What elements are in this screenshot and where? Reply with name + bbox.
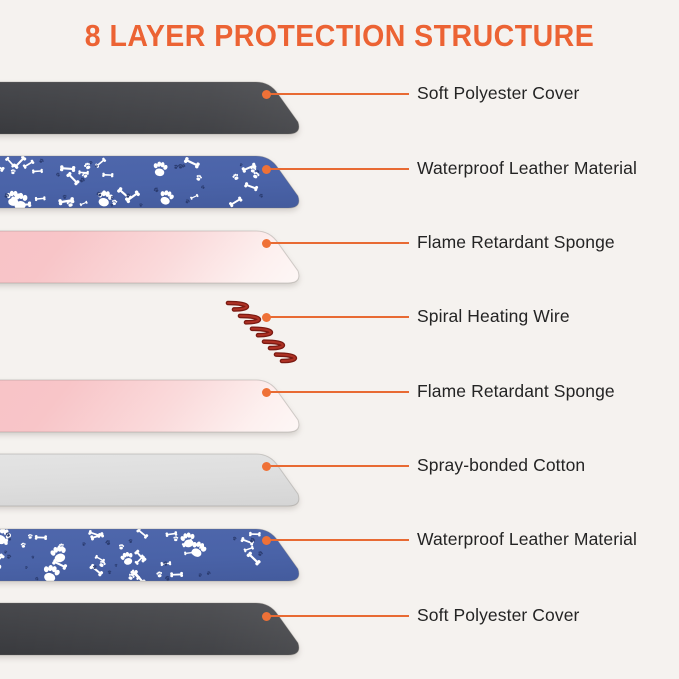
slab-shape bbox=[0, 146, 360, 220]
slab-shape bbox=[0, 593, 360, 667]
layer-label-2: Waterproof Leather Material bbox=[417, 158, 637, 179]
layer-slab-polyester bbox=[0, 72, 360, 146]
layer-label-3: Flame Retardant Sponge bbox=[417, 232, 615, 253]
layer-stack: Soft Polyester Cover bbox=[0, 0, 679, 679]
slab-shape bbox=[0, 519, 360, 593]
slab-shape bbox=[0, 444, 360, 518]
slab-shape bbox=[0, 370, 360, 444]
layer-slab-sponge bbox=[0, 370, 360, 444]
layer-label-4: Spiral Heating Wire bbox=[417, 306, 570, 327]
layer-slab-polyester bbox=[0, 593, 360, 667]
slab-shape bbox=[0, 295, 360, 369]
layer-slab-sponge bbox=[0, 221, 360, 295]
layer-label-5: Flame Retardant Sponge bbox=[417, 381, 615, 402]
layer-label-8: Soft Polyester Cover bbox=[417, 605, 579, 626]
slab-shape bbox=[0, 72, 360, 146]
layer-slab-heating-wire bbox=[0, 295, 360, 369]
layer-structure-infographic: 8 LAYER PROTECTION STRUCTURE bbox=[0, 0, 679, 679]
layer-label-6: Spray-bonded Cotton bbox=[417, 455, 585, 476]
layer-slab-cotton bbox=[0, 444, 360, 518]
layer-slab-leather bbox=[0, 519, 360, 593]
slab-shape bbox=[0, 221, 360, 295]
layer-label-7: Waterproof Leather Material bbox=[417, 529, 637, 550]
layer-label-1: Soft Polyester Cover bbox=[417, 83, 579, 104]
layer-slab-leather bbox=[0, 146, 360, 220]
